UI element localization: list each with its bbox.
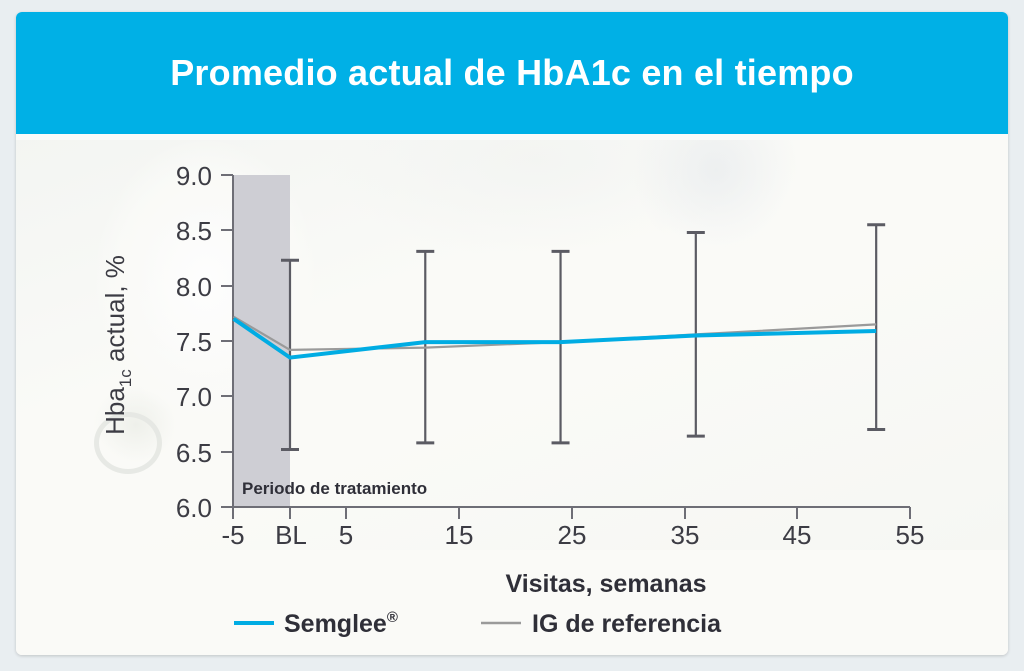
legend-label-semglee-sup: ® [387,609,398,626]
x-tick-label: 35 [671,520,700,550]
y-tick-label: 6.0 [176,493,212,523]
svg-text:Hba1c actual, %: Hba1c actual, % [100,255,135,435]
legend-label-semglee: Semglee® [284,609,398,638]
legend-label-semglee-base: Semglee [284,610,387,638]
x-tick-label: 45 [783,520,812,550]
chart-plot-area: 9.0 8.5 8.0 7.5 7.0 6.5 6.0 -5 BL 5 15 [16,140,1008,655]
y-axis-title: Hba1c actual, % [100,255,135,435]
x-tick-label: 55 [896,520,925,550]
x-axis-title: Visitas, semanas [505,570,706,598]
y-tick-label: 9.0 [176,161,212,191]
y-tick-label: 8.0 [176,272,212,302]
y-tick-label: 7.5 [176,327,212,357]
chart-legend: Semglee® IG de referencia [234,609,722,638]
y-axis-title-base: Hba [100,387,130,435]
legend-label-reference: IG de referencia [532,610,722,638]
x-axis-ticks [233,507,910,519]
chart-title-bar: Promedio actual de HbA1c en el tiempo [16,12,1008,134]
x-tick-label: 15 [445,520,474,550]
y-axis-title-rest: actual, % [100,255,130,369]
y-axis-title-subscript: 1c [116,369,135,387]
y-tick-label: 8.5 [176,216,212,246]
series-line-semglee [234,319,877,358]
treatment-period-label: Periodo de tratamiento [242,479,427,498]
x-tick-label: BL [275,520,307,550]
x-tick-label: 25 [558,520,587,550]
y-tick-label: 6.5 [176,438,212,468]
error-bar [552,251,570,442]
x-tick-label: 5 [339,520,353,550]
page-title: Promedio actual de HbA1c en el tiempo [170,52,854,94]
x-tick-label: -5 [221,520,244,550]
y-axis-ticks [221,175,233,507]
error-bar [867,225,885,430]
treatment-period-band [234,175,290,507]
y-tick-label: 7.0 [176,382,212,412]
error-bars-group [281,225,885,450]
hba1c-line-chart: 9.0 8.5 8.0 7.5 7.0 6.5 6.0 -5 BL 5 15 [16,140,1008,655]
chart-card: Promedio actual de HbA1c en el tiempo [16,12,1008,655]
